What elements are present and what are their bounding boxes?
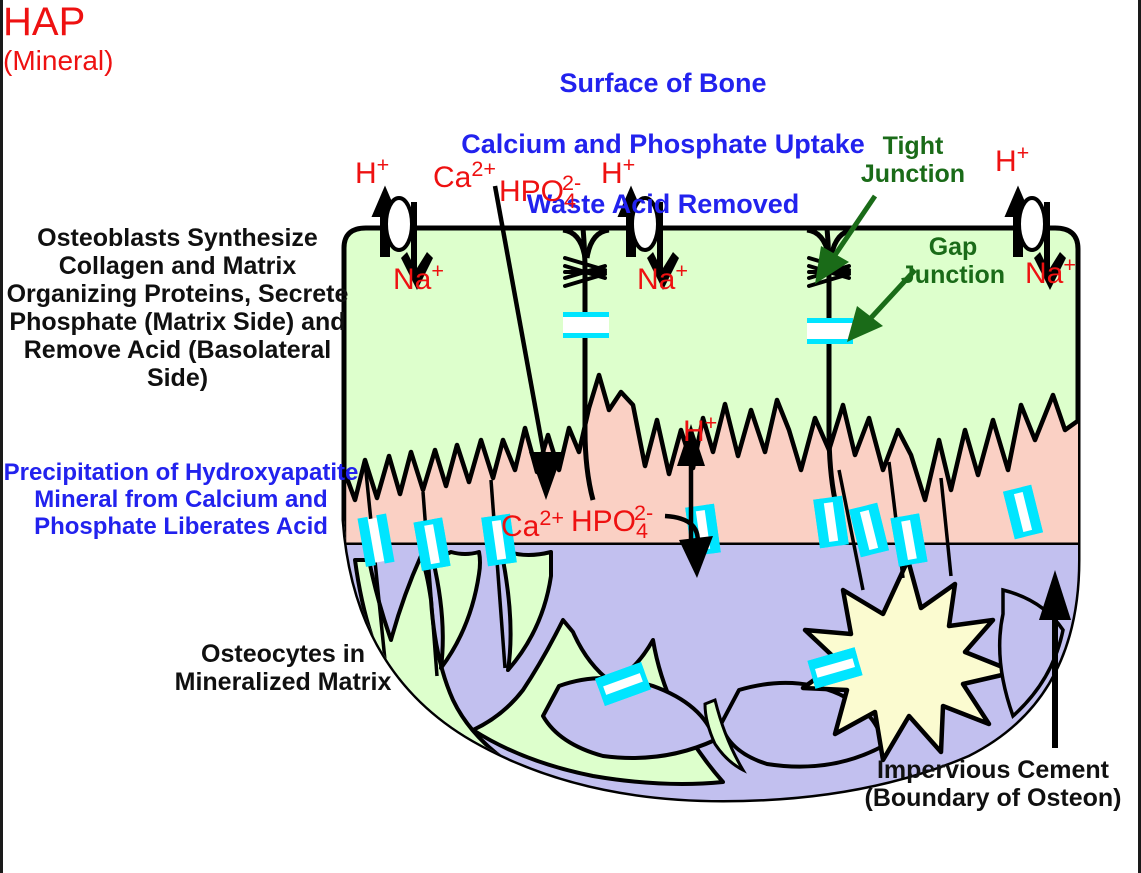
gap-junction-label: Gap Junction (893, 233, 1013, 289)
ion-h-middle: H+ (601, 152, 635, 191)
cement-line-note: Impervious Cement (Boundary of Osteon) (848, 756, 1138, 812)
ion-na-left: Na+ (393, 258, 444, 297)
title-line-1: Surface of Bone (383, 68, 943, 98)
gap-junction-upper-right (807, 318, 853, 344)
ion-na-middle: Na+ (637, 258, 688, 297)
ion-calcium-matrix: Ca2+ (501, 505, 564, 544)
osteocyte-note: Osteocytes in Mineralized Matrix (143, 640, 423, 696)
ion-h-matrix: H+ (683, 410, 717, 449)
ion-h-left: H+ (355, 152, 389, 191)
ion-h-right: H+ (995, 140, 1029, 179)
ion-phosphate-matrix: HPO42- (571, 500, 653, 544)
diagram-canvas: Surface of Bone Calcium and Phosphate Up… (0, 0, 1141, 873)
osteoblast-function-note: Osteoblasts Synthesize Collagen and Matr… (5, 224, 350, 392)
gap-junction-upper-left (563, 312, 609, 338)
ion-calcium-surface: Ca2+ (433, 156, 496, 195)
tight-junction-label: Tight Junction (848, 132, 978, 188)
ion-na-right: Na+ (1025, 252, 1076, 291)
ion-phosphate-surface: HPO42- (499, 170, 581, 214)
precipitation-note: Precipitation of Hydroxyapatite Mineral … (3, 460, 359, 541)
